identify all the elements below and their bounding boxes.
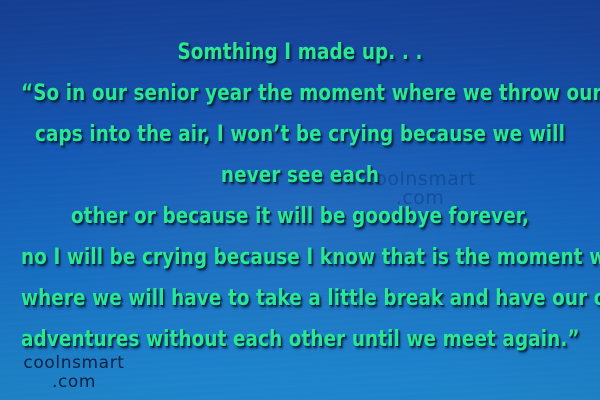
quote-image-canvas: coolnsmart .com Somthing I made up. . . …	[0, 0, 600, 400]
brand-name: coolnsmart	[23, 353, 124, 373]
quote-line-3: caps into the air, I won’t be crying bec…	[21, 114, 579, 155]
quote-line-6: no I will be crying because I know that …	[21, 237, 579, 278]
quote-text-block: Somthing I made up. . . “So in our senio…	[0, 32, 600, 360]
quote-line-4: never see each	[21, 155, 579, 196]
brand-domain: .com	[10, 373, 138, 392]
quote-line-7: where we will have to take a little brea…	[21, 278, 579, 319]
quote-line-5: other or because it will be goodbye fore…	[21, 196, 579, 237]
brand-logo: coolnsmart .com	[10, 354, 138, 392]
quote-line-2: “So in our senior year the moment where …	[21, 73, 579, 114]
quote-line-1: Somthing I made up. . .	[21, 32, 579, 73]
